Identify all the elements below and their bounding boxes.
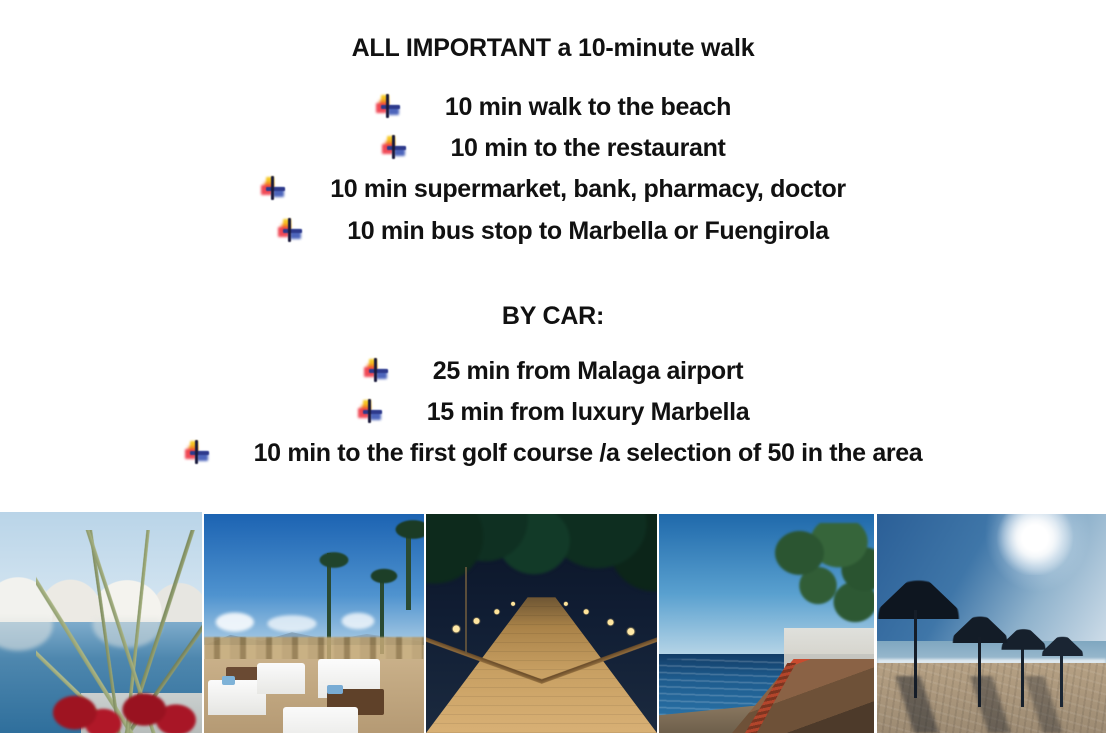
beach-club-photo	[204, 514, 424, 733]
list-item-label: 10 min to the first golf course /a selec…	[254, 435, 923, 471]
list-item-label: 10 min to the restaurant	[451, 130, 726, 166]
seafront-promenade-photo	[659, 514, 874, 733]
page-title: ALL IMPORTANT a 10-minute walk	[352, 34, 755, 63]
section-title-by-car: BY CAR:	[502, 302, 604, 331]
multicolor-cross-bullet-icon	[363, 358, 389, 384]
list-item: 10 min to the first golf course /a selec…	[184, 435, 923, 471]
list-item: 25 min from Malaga airport	[363, 353, 743, 389]
multicolor-cross-bullet-icon	[277, 218, 303, 244]
multicolor-cross-bullet-icon	[381, 135, 407, 161]
list-item-label: 10 min bus stop to Marbella or Fuengirol…	[347, 213, 829, 249]
marina-yachts-photo	[0, 512, 202, 733]
photo-strip	[0, 510, 1106, 733]
list-item: 10 min to the restaurant	[381, 130, 726, 166]
list-item: 15 min from luxury Marbella	[357, 394, 750, 430]
multicolor-cross-bullet-icon	[357, 399, 383, 425]
multicolor-cross-bullet-icon	[184, 440, 210, 466]
slide-canvas: ALL IMPORTANT a 10-minute walk 10 min wa…	[0, 0, 1106, 733]
lantern-boardwalk-photo	[426, 514, 657, 733]
multicolor-cross-bullet-icon	[260, 176, 286, 202]
list-item-label: 10 min walk to the beach	[445, 89, 731, 125]
list-item: 10 min supermarket, bank, pharmacy, doct…	[260, 171, 846, 207]
list-item: 10 min walk to the beach	[375, 89, 731, 125]
list-item: 10 min bus stop to Marbella or Fuengirol…	[277, 213, 829, 249]
list-item-label: 10 min supermarket, bank, pharmacy, doct…	[330, 171, 846, 207]
text-content-area: ALL IMPORTANT a 10-minute walk 10 min wa…	[0, 0, 1106, 512]
beach-parasols-photo	[877, 514, 1106, 733]
list-item-label: 25 min from Malaga airport	[433, 353, 743, 389]
multicolor-cross-bullet-icon	[375, 94, 401, 120]
list-item-label: 15 min from luxury Marbella	[427, 394, 750, 430]
